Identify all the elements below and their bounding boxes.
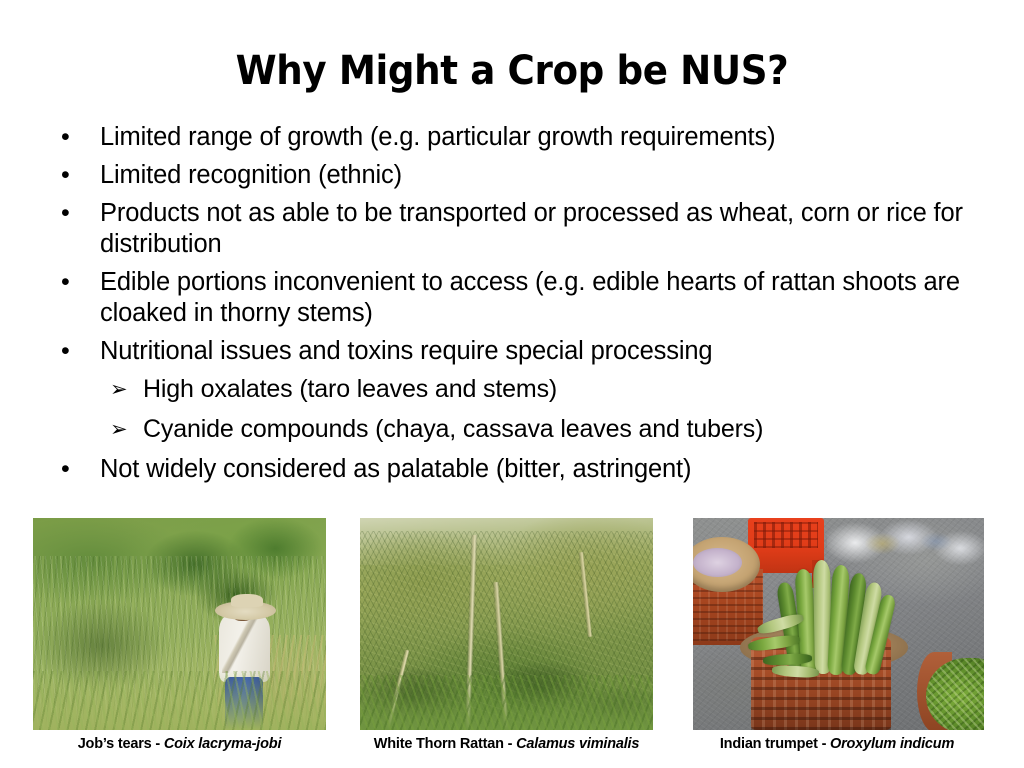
bullet-marker-icon: • <box>61 454 83 485</box>
caption-common-name: White Thorn Rattan - <box>374 736 516 752</box>
bullet-list: • Limited range of growth (e.g. particul… <box>47 122 982 492</box>
list-item: • Limited range of growth (e.g. particul… <box>47 122 982 153</box>
list-item-text: Nutritional issues and toxins require sp… <box>100 336 982 367</box>
list-item-text: Limited range of growth (e.g. particular… <box>100 122 982 153</box>
photo-caption-jobs-tears: Job’s tears - Coix lacryma-jobi <box>33 735 326 753</box>
stool-seat-pattern <box>754 522 818 547</box>
shoulder-strap <box>222 618 263 673</box>
page-title: Why Might a Crop be NUS? <box>36 48 988 94</box>
sub-list-item: ➢ Cyanide compounds (chaya, cassava leav… <box>47 414 982 445</box>
bullet-marker-icon: • <box>61 336 83 367</box>
list-item: • Limited recognition (ethnic) <box>47 160 982 191</box>
bullet-marker-icon: • <box>61 122 83 153</box>
sub-list-item: ➢ High oxalates (taro leaves and stems) <box>47 374 982 405</box>
photo-caption-white-thorn-rattan: White Thorn Rattan - Calamus viminalis <box>355 735 658 753</box>
caption-species-name: Oroxylum indicum <box>830 736 954 752</box>
caption-species-name: Coix lacryma-jobi <box>164 736 281 752</box>
list-item: • Products not as able to be transported… <box>47 198 982 260</box>
list-item-text: Not widely considered as palatable (bitt… <box>100 454 982 485</box>
photo-jobs-tears <box>33 518 326 730</box>
slide-canvas: Why Might a Crop be NUS? • Limited range… <box>0 0 1024 768</box>
straw-hat-crown <box>231 594 263 607</box>
caption-common-name: Indian trumpet - <box>720 736 830 752</box>
arrow-bullet-icon: ➢ <box>110 414 132 446</box>
list-item: • Nutritional issues and toxins require … <box>47 336 982 367</box>
list-item-text: Products not as able to be transported o… <box>100 198 982 260</box>
sub-list-item-text: Cyanide compounds (chaya, cassava leaves… <box>143 414 982 445</box>
foreground-foliage <box>360 675 653 730</box>
list-item-text: Limited recognition (ethnic) <box>100 160 982 191</box>
list-item-text: Edible portions inconvenient to access (… <box>100 267 982 329</box>
caption-common-name: Job’s tears - <box>78 736 164 752</box>
photo-indian-trumpet <box>693 518 984 730</box>
list-item: • Not widely considered as palatable (bi… <box>47 454 982 485</box>
arrow-bullet-icon: ➢ <box>110 374 132 406</box>
photo-white-thorn-rattan <box>360 518 653 730</box>
bullet-marker-icon: • <box>61 198 83 229</box>
bullet-marker-icon: • <box>61 160 83 191</box>
foreground-grass <box>33 671 326 730</box>
bullet-marker-icon: • <box>61 267 83 298</box>
photo-caption-indian-trumpet: Indian trumpet - Oroxylum indicum <box>690 735 984 753</box>
caption-species-name: Calamus viminalis <box>516 736 639 752</box>
list-item: • Edible portions inconvenient to access… <box>47 267 982 329</box>
sub-list-item-text: High oxalates (taro leaves and stems) <box>143 374 982 405</box>
